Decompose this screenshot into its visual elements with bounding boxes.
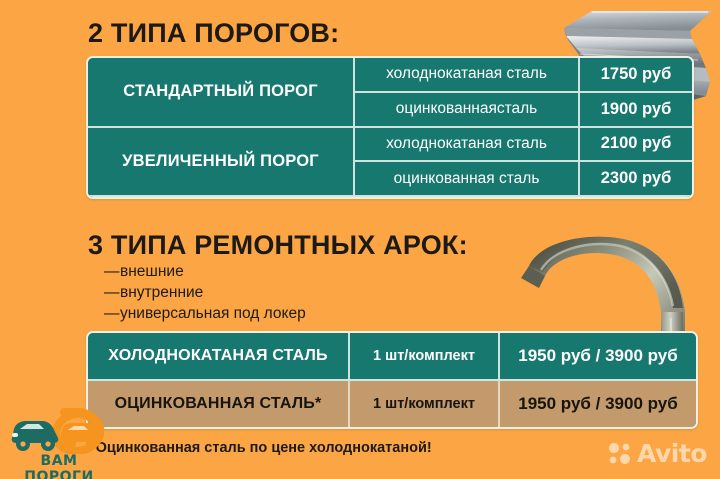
cell-sill-material: холоднокатаная сталь [355,128,580,163]
cell-sill-price: 2300 руб [580,162,692,197]
cell-arch-material: ХОЛОДНОКАТАНАЯ СТАЛЬ [88,333,350,381]
cell-sill-type: УВЕЛИЧЕННЫЙ ПОРОГ [88,128,355,198]
table-row: УВЕЛИЧЕННЫЙ ПОРОГ холоднокатаная сталь 2… [88,128,692,163]
bullet-dash-icon: — [104,303,120,324]
arches-price-table: ХОЛОДНОКАТАНАЯ СТАЛЬ 1 шт/комплект 1950 … [86,331,698,429]
list-item: —универсальная под локер [104,303,306,324]
cell-sill-price: 1750 руб [580,58,692,93]
poster-canvas: 2 ТИПА ПОРОГОВ: СТАНДАРТНЫЙ ПОРОГ холодн… [0,0,720,479]
list-item: —внешние [104,261,306,282]
arch-types-list: —внешние —внутренние —универсальная под … [104,261,306,324]
cell-sill-material: оцинкованнаясталь [355,93,580,128]
list-item-label: внутренние [120,284,203,301]
brand-logo: ВАМ ПОРОГИ [6,408,112,474]
avito-dots-icon [607,441,633,467]
logo-text: ВАМ ПОРОГИ [6,453,112,479]
footnote-text: *Оцинкованная сталь по цене холоднокатан… [90,440,432,456]
sills-price-table: СТАНДАРТНЫЙ ПОРОГ холоднокатаная сталь 1… [86,56,694,199]
cell-arch-price: 1950 руб / 3900 руб [500,381,696,427]
bullet-dash-icon: — [104,261,120,282]
cell-arch-qty: 1 шт/комплект [350,333,500,381]
avito-watermark: Avito [607,439,707,468]
page-title-sills: 2 ТИПА ПОРОГОВ: [88,18,339,49]
table-row: ХОЛОДНОКАТАНАЯ СТАЛЬ 1 шт/комплект 1950 … [88,333,696,381]
cell-sill-type: СТАНДАРТНЫЙ ПОРОГ [88,58,355,128]
list-item-label: внешние [120,263,184,280]
cell-arch-material: ОЦИНКОВАННАЯ СТАЛЬ* [88,381,350,427]
page-title-arches: 3 ТИПА РЕМОНТНЫХ АРОК: [88,230,468,261]
cell-sill-material: оцинкованная сталь [355,162,580,197]
logo-car-icon [6,408,112,454]
cell-sill-price: 2100 руб [580,128,692,163]
cell-sill-material: холоднокатаная сталь [355,58,580,93]
avito-watermark-text: Avito [637,439,707,468]
table-row: СТАНДАРТНЫЙ ПОРОГ холоднокатаная сталь 1… [88,58,692,93]
bullet-dash-icon: — [104,282,120,303]
cell-arch-price: 1950 руб / 3900 руб [500,333,696,381]
table-row: ОЦИНКОВАННАЯ СТАЛЬ* 1 шт/комплект 1950 р… [88,381,696,427]
list-item: —внутренние [104,282,306,303]
cell-sill-price: 1900 руб [580,93,692,128]
list-item-label: универсальная под локер [120,305,306,322]
cell-arch-qty: 1 шт/комплект [350,381,500,427]
